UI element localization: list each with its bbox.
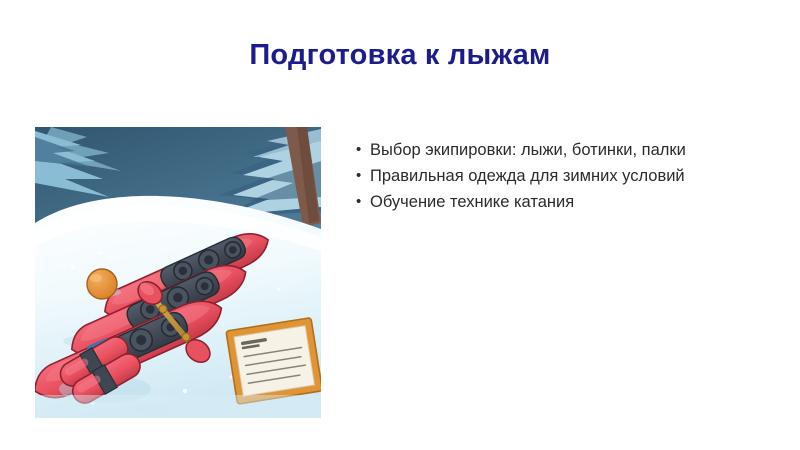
list-item: • Выбор экипировки: лыжи, ботинки, палки bbox=[356, 137, 776, 163]
bullet-dot-icon: • bbox=[356, 189, 370, 215]
bullet-text: Обучение технике катания bbox=[370, 189, 574, 215]
bullet-dot-icon: • bbox=[356, 163, 370, 189]
list-item: • Обучение технике катания bbox=[356, 189, 776, 215]
ski-preparation-illustration bbox=[35, 127, 321, 418]
bullet-list: • Выбор экипировки: лыжи, ботинки, палки… bbox=[356, 137, 776, 215]
bullet-text: Выбор экипировки: лыжи, ботинки, палки bbox=[370, 137, 686, 163]
bullet-dot-icon: • bbox=[356, 137, 370, 163]
checklist-note bbox=[226, 318, 321, 405]
ski-scene-graphic bbox=[35, 127, 321, 418]
slide: Подготовка к лыжам bbox=[0, 0, 800, 450]
page-title: Подготовка к лыжам bbox=[0, 38, 800, 73]
list-item: • Правильная одежда для зимних условий bbox=[356, 163, 776, 189]
bullet-text: Правильная одежда для зимних условий bbox=[370, 163, 685, 189]
